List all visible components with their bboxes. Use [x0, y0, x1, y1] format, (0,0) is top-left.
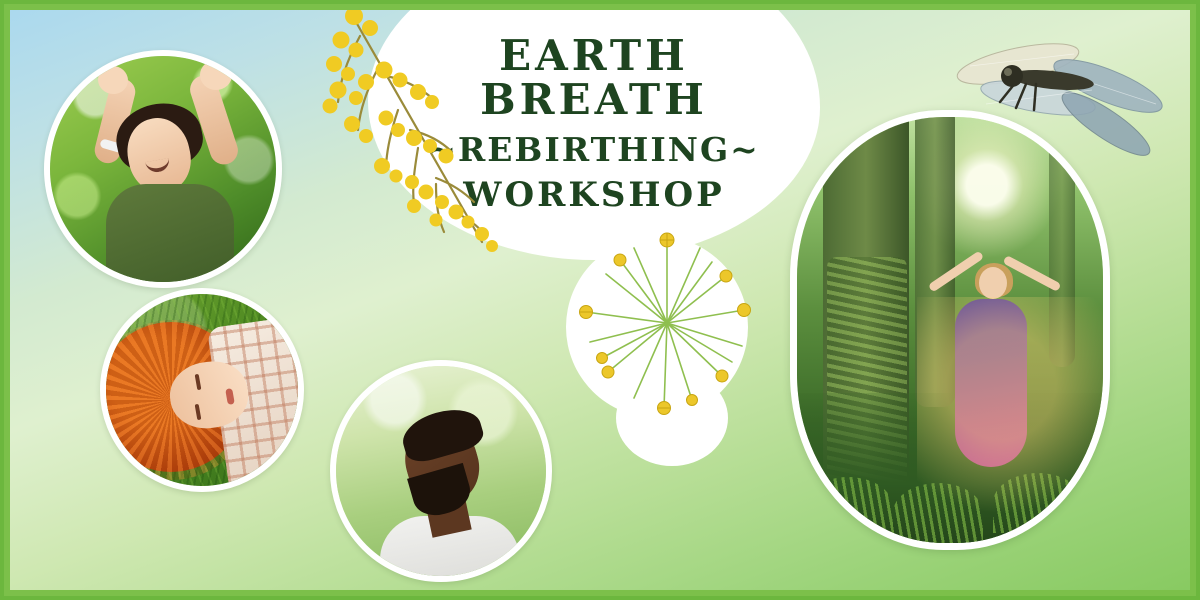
photo-woman-arms-image — [50, 56, 276, 282]
photo-breathing-man — [330, 360, 552, 582]
photo-woman-arms — [44, 50, 282, 288]
photo-forest-woman-image — [797, 117, 1103, 543]
photo-forest-woman — [790, 110, 1110, 550]
dandelion-burst-decoration — [572, 228, 762, 418]
photo-breathing-man-image — [336, 366, 546, 576]
dragonfly-decoration — [930, 20, 1170, 170]
event-poster: EARTH BREATH ~REBIRTHING~ WORKSHOP — [0, 0, 1200, 600]
photo-redhead-woman-image — [106, 294, 298, 486]
photo-redhead-woman — [100, 288, 304, 492]
mimosa-branch-decoration — [286, 6, 532, 276]
